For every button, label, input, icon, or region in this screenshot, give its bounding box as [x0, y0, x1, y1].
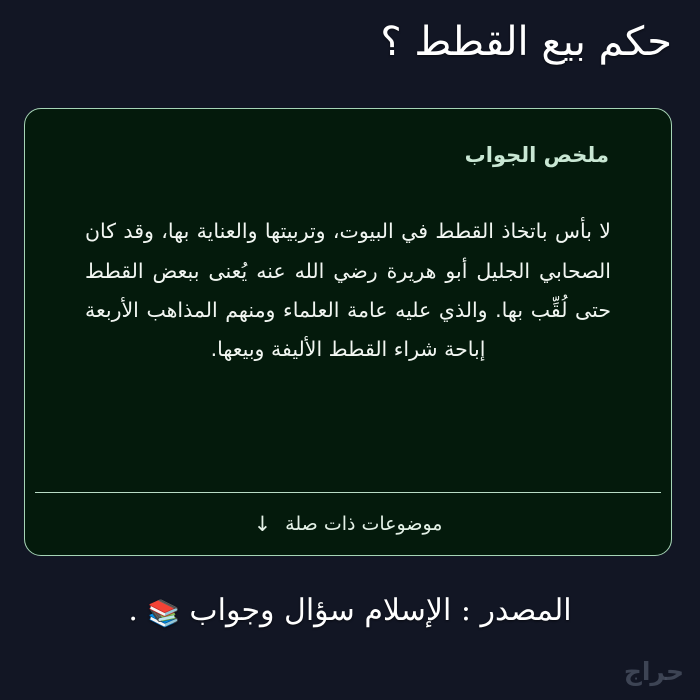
screenshot-root: حكم بيع القطط ؟ ملخص الجواب لا بأس باتخا… — [0, 0, 700, 700]
watermark: حراج — [624, 657, 684, 686]
related-topics-link[interactable]: موضوعات ذات صلة ↓ — [25, 493, 671, 555]
answer-body-text: لا بأس باتخاذ القطط في البيوت، وتربيتها … — [85, 212, 611, 369]
source-line: المصدر : الإسلام سؤال وجواب 📚 . — [0, 588, 700, 634]
source-label: المصدر : الإسلام سؤال وجواب — [189, 593, 571, 628]
card-body: ملخص الجواب لا بأس باتخاذ القطط في البيو… — [25, 109, 671, 492]
card-heading: ملخص الجواب — [61, 141, 609, 170]
page-title: حكم بيع القطط ؟ — [28, 12, 672, 72]
related-topics-label: موضوعات ذات صلة — [285, 515, 442, 534]
arrow-down-icon: ↓ — [254, 514, 272, 535]
source-trailing-period: . — [128, 593, 138, 628]
answer-summary-card: ملخص الجواب لا بأس باتخاذ القطط في البيو… — [24, 108, 672, 556]
books-icon: 📚 — [147, 599, 179, 629]
